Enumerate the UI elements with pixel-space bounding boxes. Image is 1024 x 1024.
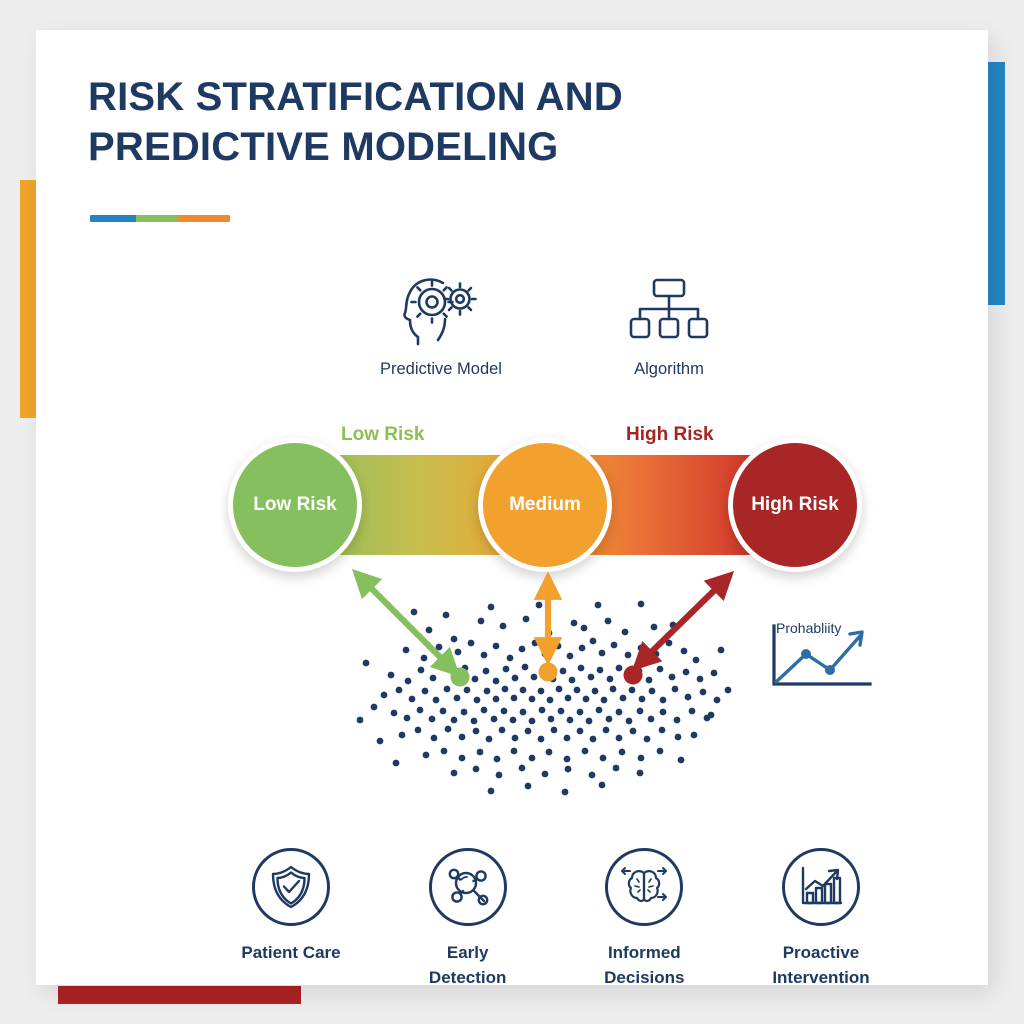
prob-marker bbox=[825, 665, 835, 675]
benefit-item-label: ProactiveIntervention bbox=[772, 940, 869, 990]
magnifier-molecule-icon bbox=[429, 848, 507, 926]
low-risk-connector bbox=[356, 573, 456, 673]
benefit-item-proactive-intervention[interactable]: ProactiveIntervention bbox=[746, 848, 896, 990]
benefit-item-early-detection[interactable]: EarlyDetection bbox=[393, 848, 543, 990]
low-risk-point bbox=[451, 668, 470, 687]
benefit-item-label: InformedDecisions bbox=[604, 940, 684, 990]
medium-risk-point bbox=[539, 663, 558, 682]
bar-chart-trend-icon bbox=[782, 848, 860, 926]
benefit-item-informed-decisions[interactable]: InformedDecisions bbox=[569, 848, 719, 990]
benefit-icon-row: Patient Care EarlyDetection bbox=[216, 848, 896, 990]
spectrum-caption-low: Low Risk bbox=[341, 424, 424, 446]
spectrum-caption-high: High Risk bbox=[626, 424, 714, 446]
prob-line bbox=[776, 636, 860, 682]
risk-scatter-plot bbox=[336, 555, 736, 820]
benefit-item-label: Patient Care bbox=[241, 940, 340, 965]
brain-arrows-icon bbox=[605, 848, 683, 926]
probability-inset-chart bbox=[758, 612, 888, 712]
prob-marker bbox=[801, 649, 811, 659]
risk-circle-medium[interactable]: Medium bbox=[478, 438, 612, 572]
shield-check-icon bbox=[252, 848, 330, 926]
risk-circle-low[interactable]: Low Risk bbox=[228, 438, 362, 572]
benefit-item-patient-care[interactable]: Patient Care bbox=[216, 848, 366, 990]
risk-spectrum: Low Risk High Risk Low Risk Medium High … bbox=[36, 30, 988, 985]
high-risk-point bbox=[624, 666, 643, 685]
risk-circle-high[interactable]: High Risk bbox=[728, 438, 862, 572]
infographic-card: Risk Stratification and Predictive Model… bbox=[36, 30, 988, 985]
benefit-item-label: EarlyDetection bbox=[429, 940, 506, 990]
right-accent-bar bbox=[986, 62, 1005, 305]
